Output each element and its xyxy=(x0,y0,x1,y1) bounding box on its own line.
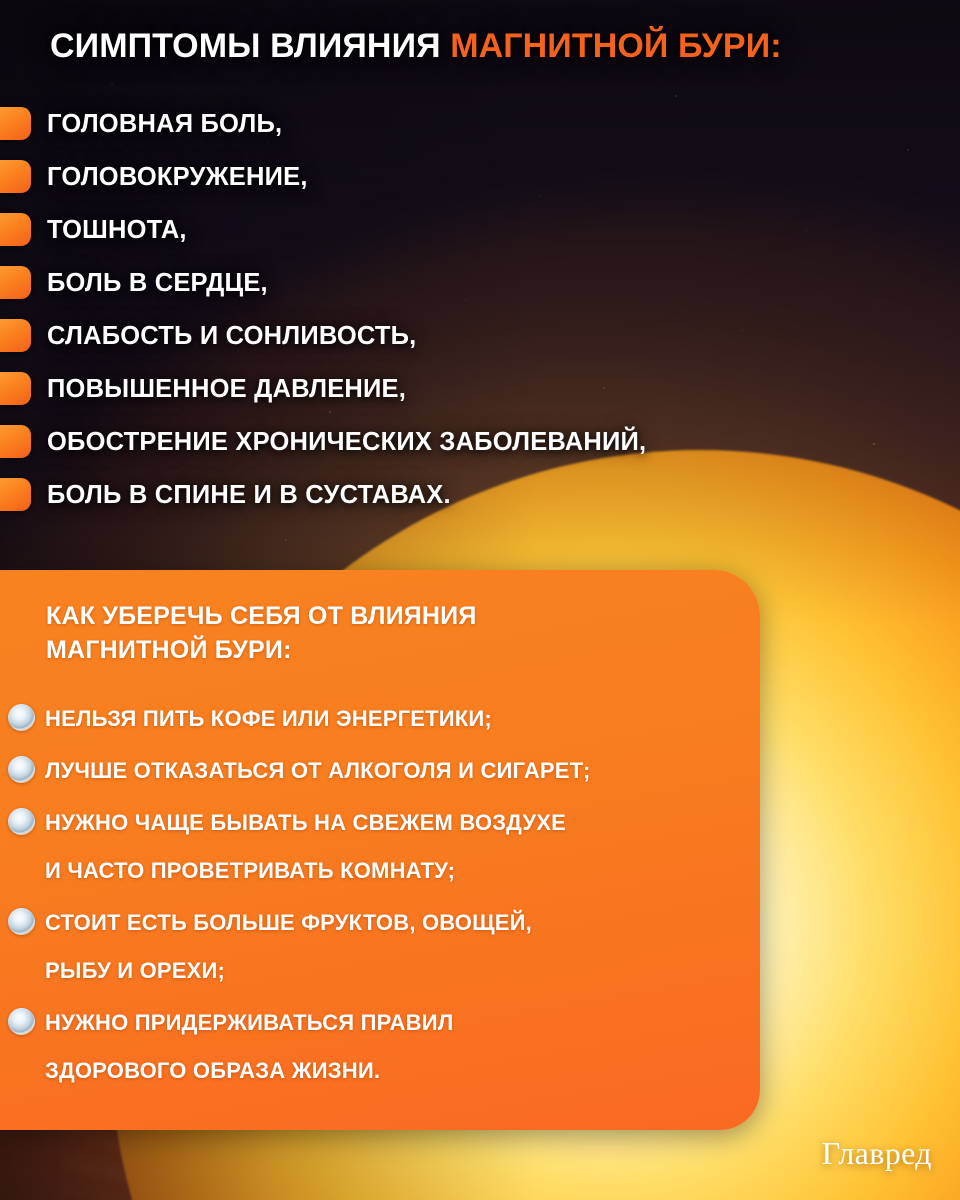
symptom-label: ПОВЫШЕННОЕ ДАВЛЕНИЕ, xyxy=(47,375,406,404)
advice-label: НУЖНО ПРИДЕРЖИВАТЬСЯ ПРАВИЛ xyxy=(45,1010,453,1036)
advice-line: СТОИТ ЕСТЬ БОЛЬШЕ ФРУКТОВ, ОВОЩЕЙ, xyxy=(0,899,760,947)
advice-label-continued: РЫБУ И ОРЕХИ; xyxy=(45,958,225,984)
list-item: БОЛЬ В СЕРДЦЕ, xyxy=(0,257,960,310)
symptom-label: БОЛЬ В СПИНЕ И В СУСТАВАХ. xyxy=(47,481,451,510)
advice-line-continued: РЫБУ И ОРЕХИ; xyxy=(0,947,760,995)
symptoms-list: ГОЛОВНАЯ БОЛЬ, ГОЛОВОКРУЖЕНИЕ, ТОШНОТА, … xyxy=(0,98,960,522)
advice-line: НЕЛЬЗЯ ПИТЬ КОФЕ ИЛИ ЭНЕРГЕТИКИ; xyxy=(0,695,760,743)
publisher-watermark: Главред xyxy=(822,1135,932,1172)
list-item: ЛУЧШЕ ОТКАЗАТЬСЯ ОТ АЛКОГОЛЯ И СИГАРЕТ; xyxy=(0,747,760,795)
list-item: НУЖНО ЧАЩЕ БЫВАТЬ НА СВЕЖЕМ ВОЗДУХЕ И ЧА… xyxy=(0,799,760,895)
advice-line: НУЖНО ПРИДЕРЖИВАТЬСЯ ПРАВИЛ xyxy=(0,999,760,1047)
orange-tab-bullet-icon xyxy=(0,478,31,511)
advice-panel: КАК УБЕРЕЧЬ СЕБЯ ОТ ВЛИЯНИЯМАГНИТНОЙ БУР… xyxy=(0,570,760,1130)
orange-tab-bullet-icon xyxy=(0,266,31,299)
silver-ring-bullet-icon xyxy=(8,756,35,783)
advice-label-continued: ЗДОРОВОГО ОБРАЗА ЖИЗНИ. xyxy=(45,1058,380,1084)
advice-panel-title: КАК УБЕРЕЧЬ СЕБЯ ОТ ВЛИЯНИЯМАГНИТНОЙ БУР… xyxy=(46,600,477,667)
symptom-label: БОЛЬ В СЕРДЦЕ, xyxy=(47,269,268,298)
page-title-plain: СИМПТОМЫ ВЛИЯНИЯ xyxy=(50,27,450,65)
orange-tab-bullet-icon xyxy=(0,319,31,352)
silver-ring-bullet-icon xyxy=(8,1008,35,1035)
page-title: СИМПТОМЫ ВЛИЯНИЯ МАГНИТНОЙ БУРИ: xyxy=(50,28,782,65)
page-title-accent: МАГНИТНОЙ БУРИ: xyxy=(450,27,781,65)
list-item: НУЖНО ПРИДЕРЖИВАТЬСЯ ПРАВИЛ ЗДОРОВОГО ОБ… xyxy=(0,999,760,1095)
advice-label: СТОИТ ЕСТЬ БОЛЬШЕ ФРУКТОВ, ОВОЩЕЙ, xyxy=(45,910,532,936)
orange-tab-bullet-icon xyxy=(0,160,31,193)
list-item: СЛАБОСТЬ И СОНЛИВОСТЬ, xyxy=(0,310,960,363)
list-item: ГОЛОВНАЯ БОЛЬ, xyxy=(0,98,960,151)
orange-tab-bullet-icon xyxy=(0,372,31,405)
silver-ring-bullet-icon xyxy=(8,908,35,935)
advice-label: ЛУЧШЕ ОТКАЗАТЬСЯ ОТ АЛКОГОЛЯ И СИГАРЕТ; xyxy=(45,758,591,784)
orange-tab-bullet-icon xyxy=(0,425,31,458)
poster-content: СИМПТОМЫ ВЛИЯНИЯ МАГНИТНОЙ БУРИ: ГОЛОВНА… xyxy=(0,0,960,1200)
advice-line-continued: И ЧАСТО ПРОВЕТРИВАТЬ КОМНАТУ; xyxy=(0,847,760,895)
list-item: ГОЛОВОКРУЖЕНИЕ, xyxy=(0,151,960,204)
advice-list: НЕЛЬЗЯ ПИТЬ КОФЕ ИЛИ ЭНЕРГЕТИКИ; ЛУЧШЕ О… xyxy=(0,695,760,1099)
symptom-label: СЛАБОСТЬ И СОНЛИВОСТЬ, xyxy=(47,322,416,351)
advice-title-line2: МАГНИТНОЙ БУРИ: xyxy=(46,636,292,664)
orange-tab-bullet-icon xyxy=(0,107,31,140)
advice-label: НУЖНО ЧАЩЕ БЫВАТЬ НА СВЕЖЕМ ВОЗДУХЕ xyxy=(45,810,566,836)
silver-ring-bullet-icon xyxy=(8,808,35,835)
silver-ring-bullet-icon xyxy=(8,704,35,731)
list-item: СТОИТ ЕСТЬ БОЛЬШЕ ФРУКТОВ, ОВОЩЕЙ, РЫБУ … xyxy=(0,899,760,995)
list-item: ПОВЫШЕННОЕ ДАВЛЕНИЕ, xyxy=(0,363,960,416)
advice-label-continued: И ЧАСТО ПРОВЕТРИВАТЬ КОМНАТУ; xyxy=(45,858,455,884)
symptom-label: ГОЛОВНАЯ БОЛЬ, xyxy=(47,110,282,139)
list-item: ОБОСТРЕНИЕ ХРОНИЧЕСКИХ ЗАБОЛЕВАНИЙ, xyxy=(0,416,960,469)
list-item: ТОШНОТА, xyxy=(0,204,960,257)
orange-tab-bullet-icon xyxy=(0,213,31,246)
advice-line: НУЖНО ЧАЩЕ БЫВАТЬ НА СВЕЖЕМ ВОЗДУХЕ xyxy=(0,799,760,847)
list-item: НЕЛЬЗЯ ПИТЬ КОФЕ ИЛИ ЭНЕРГЕТИКИ; xyxy=(0,695,760,743)
advice-line-continued: ЗДОРОВОГО ОБРАЗА ЖИЗНИ. xyxy=(0,1047,760,1095)
advice-line: ЛУЧШЕ ОТКАЗАТЬСЯ ОТ АЛКОГОЛЯ И СИГАРЕТ; xyxy=(0,747,760,795)
advice-title-line1: КАК УБЕРЕЧЬ СЕБЯ ОТ ВЛИЯНИЯ xyxy=(46,602,477,630)
infographic-poster: СИМПТОМЫ ВЛИЯНИЯ МАГНИТНОЙ БУРИ: ГОЛОВНА… xyxy=(0,0,960,1200)
list-item: БОЛЬ В СПИНЕ И В СУСТАВАХ. xyxy=(0,469,960,522)
symptom-label: ТОШНОТА, xyxy=(47,216,187,245)
symptom-label: ГОЛОВОКРУЖЕНИЕ, xyxy=(47,163,308,192)
symptom-label: ОБОСТРЕНИЕ ХРОНИЧЕСКИХ ЗАБОЛЕВАНИЙ, xyxy=(47,428,646,457)
advice-label: НЕЛЬЗЯ ПИТЬ КОФЕ ИЛИ ЭНЕРГЕТИКИ; xyxy=(45,706,492,732)
